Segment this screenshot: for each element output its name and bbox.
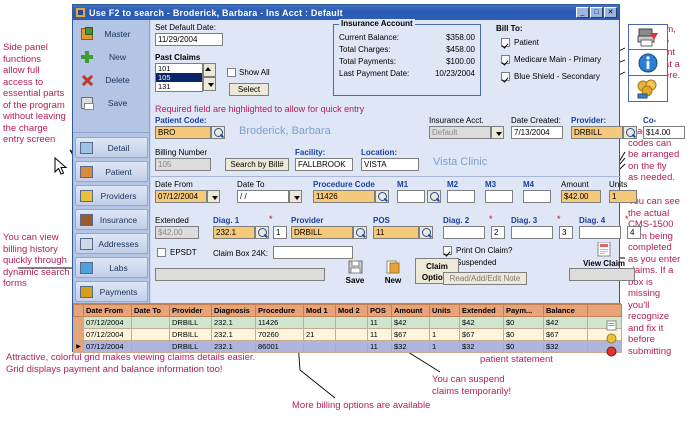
diag1-order-input[interactable]: 1	[273, 226, 287, 239]
units-label: Units	[609, 180, 627, 189]
grid-col-diagnosis[interactable]: Diagnosis	[212, 305, 256, 317]
view-claim-icon	[597, 242, 611, 257]
diag3-required-asterisk: *	[557, 214, 561, 224]
date-created-input[interactable]: 7/13/2004	[511, 126, 563, 139]
grid-col-pos[interactable]: POS	[368, 305, 392, 317]
grid-col-extended[interactable]: Extended	[460, 305, 504, 317]
row-marker-selected[interactable]: ▶	[74, 341, 84, 353]
grid-col-provider[interactable]: Provider	[170, 305, 212, 317]
bill-to-blueshield-label: Blue Shield - Secondary	[514, 72, 600, 81]
set-default-date-label: Set Default Date:	[155, 23, 255, 32]
diag2-required-asterisk: *	[489, 214, 493, 224]
sidebar-item-patient[interactable]: Patient	[75, 161, 148, 182]
view-claim-button[interactable]: View Claim	[569, 259, 639, 268]
pos-search-icon[interactable]	[419, 226, 433, 239]
grid-col-amount[interactable]: Amount	[392, 305, 430, 317]
annotation-side-panel: Side panel functions allow full access t…	[3, 42, 73, 146]
date-from-calendar-icon[interactable]	[207, 190, 220, 203]
insurance-acct-select[interactable]: Default	[429, 126, 491, 139]
cell-provider[interactable]: DRBILL	[170, 341, 212, 353]
cell-payment[interactable]: $0	[504, 341, 544, 353]
cell-pos[interactable]: 11	[368, 329, 392, 341]
m1-search-icon[interactable]	[427, 190, 441, 203]
patient-code-label: Patient Code:	[155, 116, 207, 125]
bill-to-patient-label: Patient	[514, 38, 539, 47]
grid-header-row: Date From Date To Provider Diagnosis Pro…	[74, 305, 622, 317]
claim-box-24k-label: Claim Box 24K:	[213, 249, 268, 258]
past-claims-item[interactable]: 101	[156, 64, 202, 73]
app-icon	[75, 7, 86, 18]
sidebar-item-label: Addresses	[96, 239, 147, 249]
clinic-name-display: Vista Clinic	[433, 156, 487, 168]
info-icon	[637, 52, 659, 74]
m2-label: M2	[447, 180, 458, 189]
grid-col-date-from[interactable]: Date From	[84, 305, 132, 317]
money-balloons-icon	[636, 79, 660, 99]
sidebar-item-label: Patient	[96, 167, 147, 177]
cell-mod2[interactable]	[336, 329, 368, 341]
annotation-billing-history: You can view billing history quickly thr…	[3, 232, 73, 290]
row-flag-icon[interactable]	[606, 333, 617, 346]
past-claims-scroll-down[interactable]	[203, 77, 216, 91]
sidebar-item-label: Providers	[96, 191, 147, 201]
sidebar-item-label: Delete	[97, 75, 146, 85]
sidebar-item-addresses[interactable]: Addresses	[75, 233, 148, 254]
last-payment-date-value: 10/23/2004	[435, 69, 475, 78]
provider2-label: Provider	[291, 216, 323, 225]
insurance-acct-label: Insurance Acct.	[429, 116, 484, 125]
read-add-edit-note-button[interactable]: Read/Add/Edit Note	[443, 272, 527, 285]
suspended-label: Suspended	[456, 258, 496, 267]
diag4-required-asterisk: *	[625, 214, 629, 224]
search-by-bill-button[interactable]: Search by Bill#	[225, 158, 289, 171]
cell-date-to[interactable]	[132, 341, 170, 353]
date-to-calendar-icon[interactable]	[289, 190, 302, 203]
amount-input[interactable]: $42.00	[561, 190, 601, 203]
cell-balance[interactable]: $32	[544, 341, 588, 353]
extended-label: Extended	[155, 216, 189, 225]
cell-mod2[interactable]	[336, 341, 368, 353]
sidebar-item-label: Detail	[96, 143, 147, 153]
bill-to-title: Bill To:	[496, 24, 616, 33]
cell-date-from[interactable]: 07/12/2004	[84, 317, 132, 329]
labs-icon	[80, 262, 93, 274]
billing-number-label: Billing Number	[155, 148, 207, 157]
claims-grid[interactable]: Date From Date To Provider Diagnosis Pro…	[73, 303, 621, 353]
mouse-cursor	[55, 158, 66, 174]
cell-units[interactable]	[430, 317, 460, 329]
extended-input: $42.00	[155, 226, 199, 239]
print-on-claim-checkbox[interactable]	[443, 246, 452, 255]
diag4-label: Diag. 4	[579, 216, 605, 225]
grid-col-procedure[interactable]: Procedure	[256, 305, 304, 317]
diag2-label: Diag. 2	[443, 216, 469, 225]
table-row[interactable]: ▶ 07/12/2004 DRBILL 232.1 86001 11 $32 1…	[74, 341, 622, 353]
bill-to-blueshield-checkbox[interactable]	[501, 72, 510, 81]
patient-balance-icon-button[interactable]	[628, 76, 668, 102]
provider-label: Provider:	[571, 116, 606, 125]
sidebar-item-providers[interactable]: Providers	[75, 185, 148, 206]
sidebar-item-payments[interactable]: Payments	[75, 281, 148, 302]
save-button[interactable]: Save	[339, 276, 371, 285]
annotation-cms-form: You can see the actual CMS-1500 form bei…	[628, 196, 700, 357]
close-button[interactable]: ✕	[604, 7, 617, 18]
past-claims-scroll-up[interactable]	[203, 63, 216, 77]
view-claim-field[interactable]	[569, 268, 635, 281]
sidebar-item-insurance[interactable]: Insurance	[75, 209, 148, 230]
procedure-code-search-icon[interactable]	[375, 190, 389, 203]
info-icon-button[interactable]	[628, 50, 668, 76]
set-default-date-input[interactable]: 11/29/2004	[155, 33, 223, 46]
master-icon	[81, 28, 93, 40]
amount-label: Amount	[561, 180, 589, 189]
printer-claim-icon	[636, 27, 660, 47]
bill-to-patient-checkbox[interactable]	[501, 38, 510, 47]
annotation-billing-options: More billing options are available	[292, 400, 492, 412]
diag1-input[interactable]: 232.1	[213, 226, 255, 239]
cell-date-to[interactable]	[132, 329, 170, 341]
diag1-label: Diag. 1	[213, 216, 239, 225]
form-divider-1	[151, 176, 621, 177]
date-from-label: Date From	[155, 180, 193, 189]
sidebar-item-label: Insurance	[96, 215, 147, 225]
sidebar-item-label: Payments	[96, 287, 147, 297]
insurance-account-panel: Insurance Account Current Balance: $358.…	[333, 24, 481, 96]
grid-col-units[interactable]: Units	[430, 305, 460, 317]
cell-units[interactable]: 1	[430, 329, 460, 341]
cell-extended[interactable]: $32	[460, 341, 504, 353]
current-balance-label: Current Balance:	[339, 33, 399, 42]
total-charges-label: Total Charges:	[339, 45, 391, 54]
cell-diagnosis[interactable]: 232.1	[212, 317, 256, 329]
past-claims-item-selected[interactable]: 105	[156, 73, 202, 82]
m3-label: M3	[485, 180, 496, 189]
provider-input[interactable]: DRBILL	[571, 126, 623, 139]
total-charges-value: $458.00	[446, 45, 475, 54]
sidebar-item-detail[interactable]: Detail	[75, 137, 148, 158]
diag2-input[interactable]	[443, 226, 485, 239]
date-to-input[interactable]: / /	[237, 190, 289, 203]
past-claims-label: Past Claims	[155, 53, 200, 62]
m1-label: M1	[397, 180, 408, 189]
cell-procedure[interactable]: 86001	[256, 341, 304, 353]
m2-input[interactable]	[447, 190, 475, 203]
show-all-label: Show All	[239, 68, 270, 77]
sidebar-divider	[73, 132, 150, 133]
claim-box-24k-input[interactable]	[273, 246, 353, 259]
cell-payment[interactable]: $0	[504, 329, 544, 341]
diag3-order-input[interactable]: 3	[559, 226, 573, 239]
cell-pos[interactable]: 11	[368, 317, 392, 329]
copay-input[interactable]: $14.00	[643, 126, 685, 139]
cell-extended[interactable]: $42	[460, 317, 504, 329]
provider-search-icon[interactable]	[623, 126, 637, 139]
print-claim-icon-button[interactable]	[628, 24, 668, 50]
cell-procedure[interactable]: 70260	[256, 329, 304, 341]
grid-col-date-to[interactable]: Date To	[132, 305, 170, 317]
total-payments-value: $100.00	[446, 57, 475, 66]
past-claims-item[interactable]: 131	[156, 82, 202, 91]
cell-procedure[interactable]: 11426	[256, 317, 304, 329]
sidebar-item-label: New	[97, 52, 146, 62]
providers-icon	[80, 190, 93, 202]
window-titlebar[interactable]: Use F2 to search - Broderick, Barbara - …	[73, 5, 619, 20]
cell-date-to[interactable]	[132, 317, 170, 329]
diag3-label: Diag. 3	[511, 216, 537, 225]
insurance-account-title: Insurance Account	[339, 19, 415, 28]
save-disk-icon	[81, 97, 93, 109]
diag2-order-input[interactable]: 2	[491, 226, 505, 239]
application-window: Use F2 to search - Broderick, Barbara - …	[72, 4, 620, 352]
cell-diagnosis[interactable]: 232.1	[212, 329, 256, 341]
grid-col-mod1[interactable]: Mod 1	[304, 305, 336, 317]
bill-to-group: Bill To: Patient Medicare Main - Primary…	[496, 24, 616, 81]
last-payment-date-label: Last Payment Date:	[339, 69, 409, 78]
annotation-grid-colorful: Attractive, colorful grid makes viewing …	[6, 352, 336, 375]
billing-number-input: 105	[155, 158, 211, 171]
maximize-button[interactable]: □	[590, 7, 603, 18]
cell-mod1[interactable]: 21	[304, 329, 336, 341]
sidebar-item-label: Master	[97, 29, 146, 39]
new-button[interactable]: New	[377, 276, 409, 285]
bill-to-medicare-label: Medicare Main - Primary	[514, 55, 601, 64]
m3-input[interactable]	[485, 190, 513, 203]
print-on-claim-label: Print On Claim?	[456, 246, 512, 255]
sidebar-item-delete[interactable]: Delete	[76, 70, 146, 89]
row-marker[interactable]	[74, 317, 84, 329]
provider2-input[interactable]: DRBILL	[291, 226, 353, 239]
grid-col-mod2[interactable]: Mod 2	[336, 305, 368, 317]
addresses-icon	[80, 238, 93, 250]
save-icon	[348, 260, 363, 274]
date-to-label: Date To	[237, 180, 264, 189]
facility-input[interactable]: FALLBROOK	[295, 158, 353, 171]
procedure-code-input[interactable]: 11426	[313, 190, 375, 203]
new-document-icon	[386, 260, 400, 274]
grid-col-actions	[588, 305, 622, 317]
grid-col-balance[interactable]: Balance	[544, 305, 588, 317]
grid-col-marker	[74, 305, 84, 317]
delete-x-icon	[81, 74, 93, 86]
cell-units[interactable]: 1	[430, 341, 460, 353]
sidebar-item-new[interactable]: New	[76, 47, 146, 66]
m4-input[interactable]	[523, 190, 551, 203]
sidebar-item-save[interactable]: Save	[76, 93, 146, 112]
epsdt-checkbox[interactable]	[157, 248, 166, 257]
sidebar-item-master[interactable]: Master	[76, 24, 146, 43]
diag1-search-icon[interactable]	[255, 226, 269, 239]
patient-search-icon[interactable]	[211, 126, 225, 139]
cell-amount[interactable]: $67	[392, 329, 430, 341]
date-created-label: Date Created:	[511, 116, 561, 125]
payments-icon	[80, 286, 93, 298]
cell-amount[interactable]: $32	[392, 341, 430, 353]
table-row[interactable]: 07/12/2004 DRBILL 232.1 70260 21 11 $67 …	[74, 329, 622, 341]
diag1-required-asterisk: *	[269, 214, 273, 224]
insurance-acct-dropdown-icon[interactable]	[491, 126, 504, 139]
cell-balance[interactable]: $67	[544, 329, 588, 341]
sidebar-item-label: Labs	[96, 263, 147, 273]
required-field-note: Required field are highlighted to allow …	[155, 104, 364, 116]
table-row[interactable]: 07/12/2004 DRBILL 232.1 11426 11 $42 $42…	[74, 317, 622, 329]
cell-provider[interactable]: DRBILL	[170, 329, 212, 341]
cell-payment[interactable]: $0	[504, 317, 544, 329]
past-claims-list[interactable]: 101 105 131	[155, 63, 203, 92]
diag3-input[interactable]	[511, 226, 553, 239]
row-marker[interactable]	[74, 329, 84, 341]
cell-amount[interactable]: $42	[392, 317, 430, 329]
minimize-button[interactable]: _	[576, 7, 589, 18]
units-input[interactable]: 1	[609, 190, 637, 203]
cell-pos[interactable]: 11	[368, 341, 392, 353]
cell-mod1[interactable]	[304, 341, 336, 353]
pos-label: POS	[373, 216, 390, 225]
provider2-search-icon[interactable]	[353, 226, 367, 239]
location-label: Location:	[361, 148, 397, 157]
current-balance-value: $358.00	[446, 33, 475, 42]
cell-diagnosis[interactable]: 232.1	[212, 341, 256, 353]
total-payments-label: Total Payments:	[339, 57, 396, 66]
cell-extended[interactable]: $67	[460, 329, 504, 341]
pos-input[interactable]: 11	[373, 226, 419, 239]
insurance-icon	[80, 214, 93, 226]
m1-input[interactable]	[397, 190, 425, 203]
sidebar-item-label: Save	[97, 98, 146, 108]
cell-balance[interactable]: $42	[544, 317, 588, 329]
bill-to-medicare-checkbox[interactable]	[501, 55, 510, 64]
window-title: Use F2 to search - Broderick, Barbara - …	[89, 8, 576, 18]
cell-mod1[interactable]	[304, 317, 336, 329]
grid-col-payment[interactable]: Paym...	[504, 305, 544, 317]
location-input[interactable]: VISTA	[361, 158, 419, 171]
patient-name-display: Broderick, Barbara	[239, 125, 331, 137]
cell-mod2[interactable]	[336, 317, 368, 329]
patient-icon	[80, 166, 93, 178]
select-button[interactable]: Select	[229, 83, 269, 96]
epsdt-label: EPSDT	[170, 248, 197, 257]
detail-icon	[80, 142, 93, 154]
m4-label: M4	[523, 180, 534, 189]
sidebar-item-labs[interactable]: Labs	[75, 257, 148, 278]
date-from-input[interactable]: 07/12/2004	[155, 190, 207, 203]
cell-provider[interactable]: DRBILL	[170, 317, 212, 329]
annotation-suspend-claims: You can suspend claims temporarily!	[432, 374, 532, 397]
row-note-icon[interactable]	[606, 320, 617, 333]
cell-date-from[interactable]: 07/12/2004	[84, 341, 132, 353]
diag4-input[interactable]	[579, 226, 621, 239]
procedure-code-label: Procedure Code	[313, 180, 375, 189]
diag4-order-input[interactable]: 4	[627, 226, 641, 239]
row-alert-icon[interactable]	[606, 346, 617, 359]
status-bar-field	[155, 268, 325, 281]
show-all-checkbox[interactable]	[227, 68, 236, 77]
patient-code-input[interactable]: BRO	[155, 126, 211, 139]
facility-label: Facility:	[295, 148, 325, 157]
plus-icon	[81, 51, 93, 63]
cell-date-from[interactable]: 07/12/2004	[84, 329, 132, 341]
